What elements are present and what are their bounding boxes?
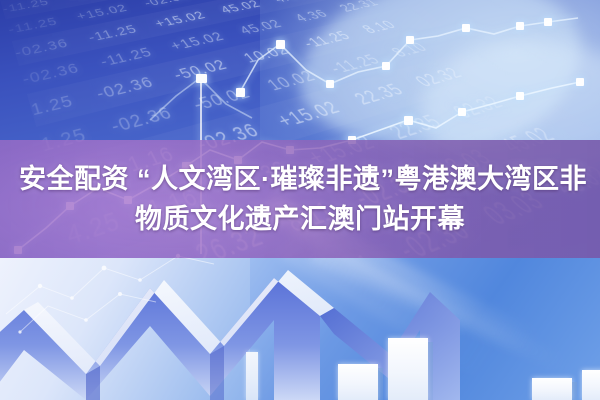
bar-column-1 — [338, 364, 378, 400]
bar-column-5 — [246, 352, 258, 400]
banner-image: -11.25 +15.02 -02.36 -50.02 26.32 21.08-… — [0, 0, 600, 400]
bar-column-2 — [388, 338, 428, 400]
banner-title: 安全配资 “人文湾区·璀璨非遗”粤港澳大湾区非 物质文化遗产汇澳门站开幕 — [0, 140, 600, 258]
bar-column-3 — [532, 378, 572, 400]
banner-title-line-1: 安全配资 “人文湾区·璀璨非遗”粤港澳大湾区非 — [19, 161, 587, 197]
bar-column-4 — [582, 370, 600, 400]
banner-title-line-2: 物质文化遗产汇澳门站开幕 — [135, 201, 465, 237]
